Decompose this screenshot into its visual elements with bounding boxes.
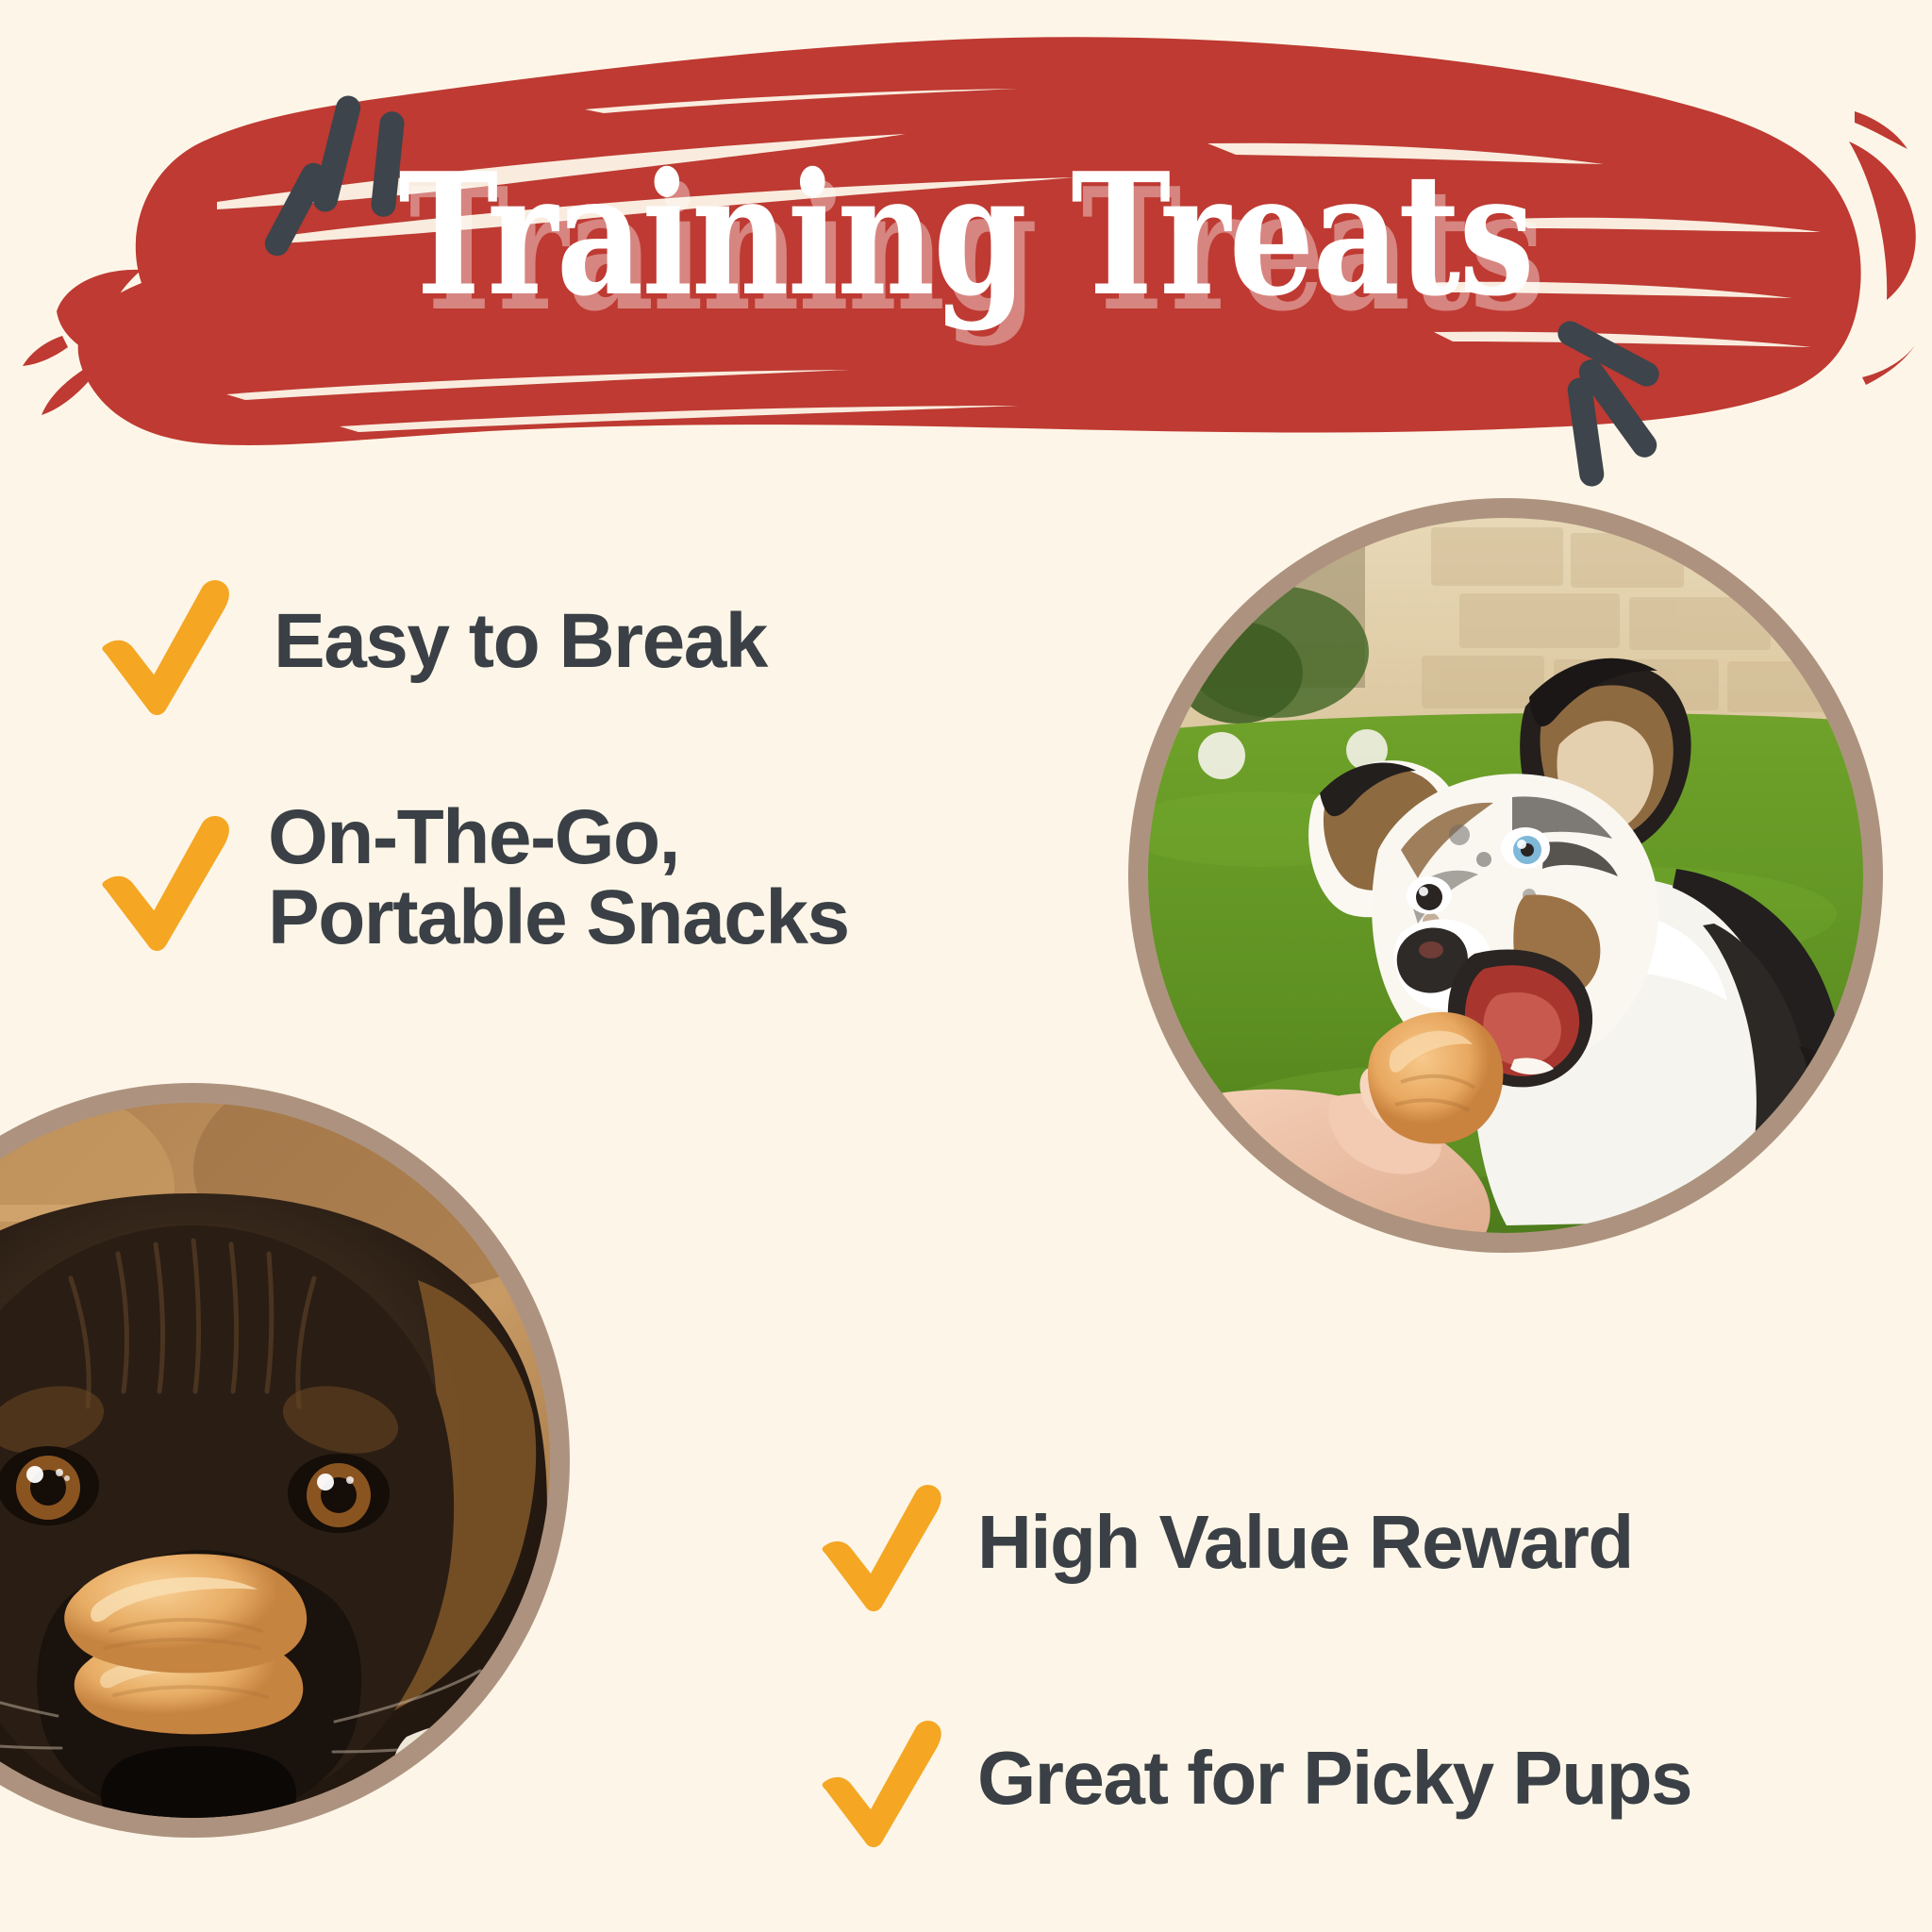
photo-shepherd-treats-on-snout (0, 1083, 570, 1838)
check-icon (811, 1707, 953, 1849)
check-icon (811, 1472, 953, 1613)
page-title: Training Treats (399, 151, 1534, 319)
shepherd-eye-left (0, 1446, 99, 1525)
feature-label: Great for Picky Pups (977, 1739, 1691, 1817)
dash-right-3 (1566, 376, 1606, 488)
photo-shepherd-image (0, 1103, 550, 1818)
feature-item-great-for-picky-pups: Great for Picky Pups (811, 1707, 1691, 1849)
feature-item-high-value-reward: High Value Reward (811, 1472, 1633, 1613)
check-icon (91, 566, 241, 717)
dog-eye-right (1501, 827, 1550, 869)
shepherd-eye-right (288, 1454, 390, 1533)
feature-label: Easy to Break (274, 601, 767, 681)
feature-item-on-the-go-portable-snacks: On-The-Go, Portable Snacks (91, 797, 849, 958)
feature-label: High Value Reward (977, 1503, 1633, 1581)
treat-piece (1368, 1012, 1503, 1144)
check-icon (91, 802, 241, 953)
feature-graphic-canvas: Training Treats (0, 0, 1932, 1932)
feature-item-easy-to-break: Easy to Break (91, 566, 767, 717)
dog-eye-left (1407, 876, 1452, 914)
page-title-wrap: Training Treats (0, 151, 1932, 319)
feature-label: On-The-Go, Portable Snacks (268, 797, 849, 958)
photo-puppy-image (1148, 518, 1863, 1233)
photo-puppy-catching-treat (1128, 498, 1883, 1253)
dash-right-2 (1574, 355, 1662, 462)
dash-right-1 (1554, 317, 1663, 391)
treat-stack (64, 1554, 307, 1734)
